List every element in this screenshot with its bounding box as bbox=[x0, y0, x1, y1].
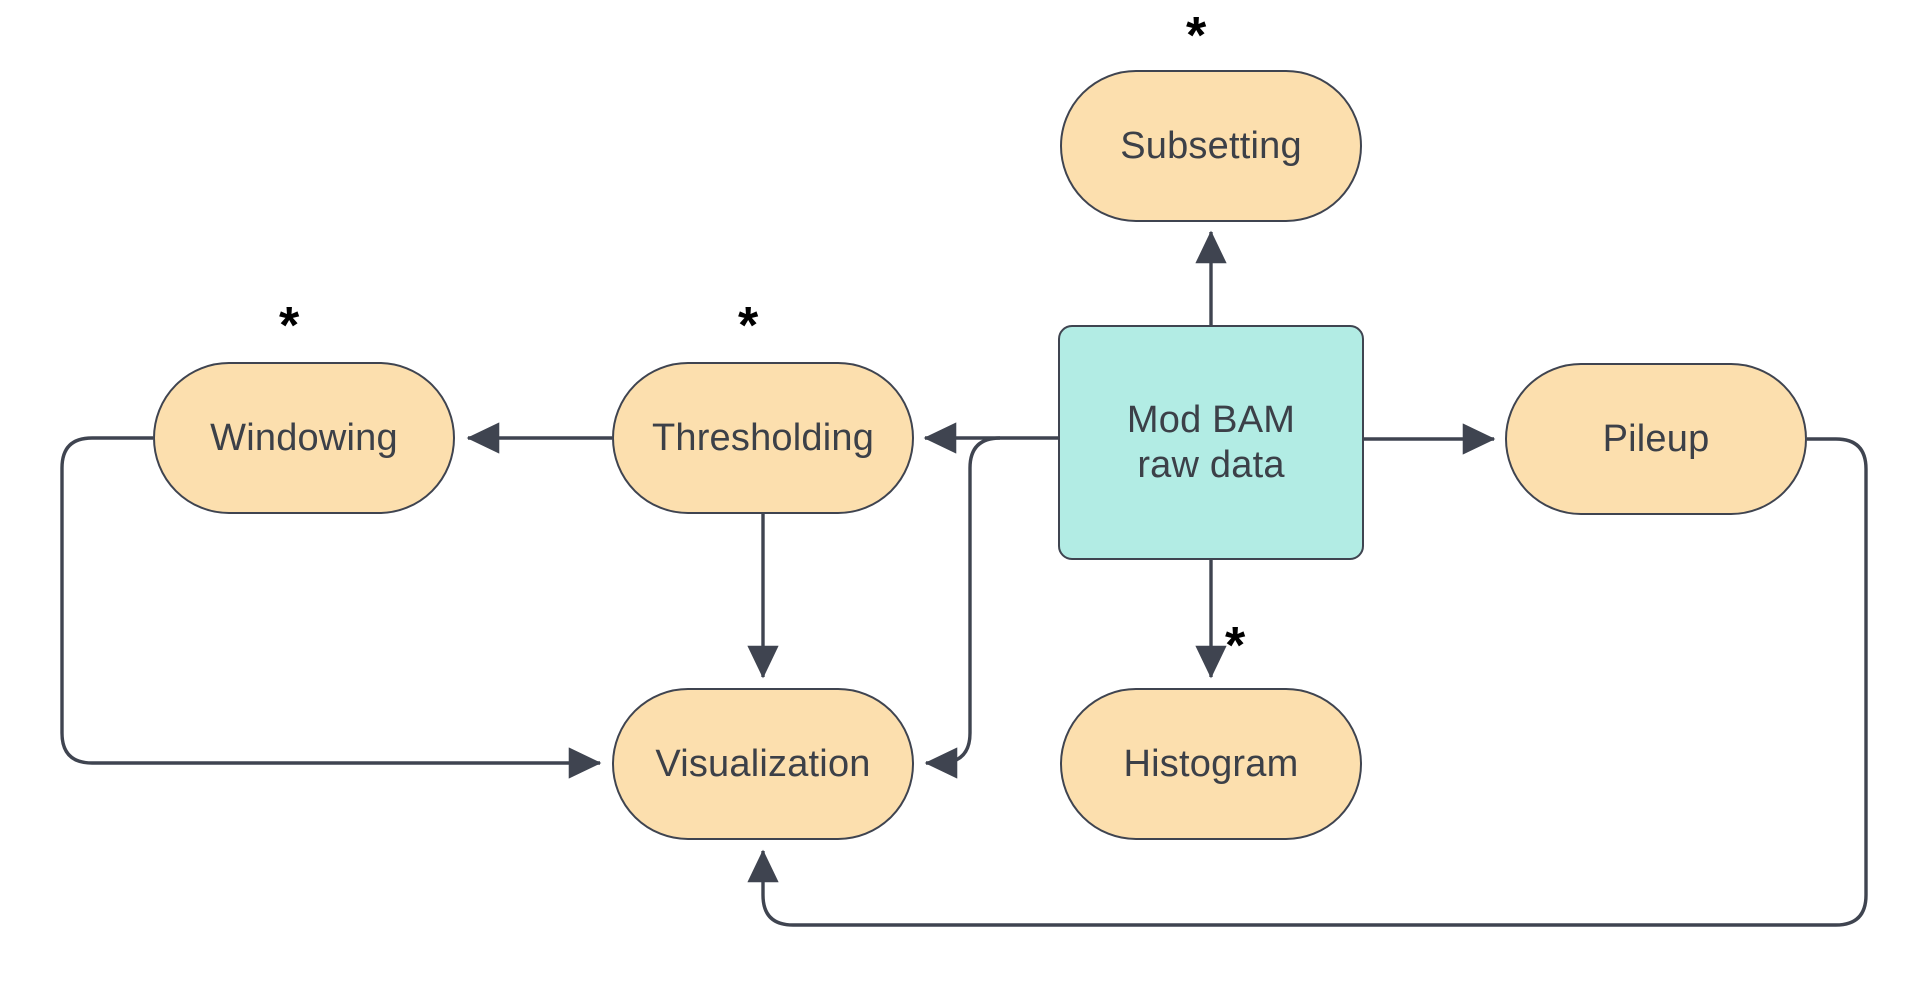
node-subsetting-label: Subsetting bbox=[1120, 124, 1302, 169]
node-thresholding[interactable]: Thresholding bbox=[612, 362, 914, 514]
edge-modbam-visualization bbox=[926, 438, 1000, 763]
asterisk-histogram: * bbox=[1225, 620, 1245, 672]
node-thresholding-label: Thresholding bbox=[652, 416, 874, 461]
node-visualization[interactable]: Visualization bbox=[612, 688, 914, 840]
node-visualization-label: Visualization bbox=[655, 742, 870, 787]
node-windowing-label: Windowing bbox=[210, 416, 398, 461]
node-pileup-label: Pileup bbox=[1603, 417, 1710, 462]
node-histogram[interactable]: Histogram bbox=[1060, 688, 1362, 840]
node-histogram-label: Histogram bbox=[1124, 742, 1299, 787]
flowchart-canvas: Subsetting * Mod BAM raw data Pileup Thr… bbox=[0, 0, 1928, 990]
node-modbam-raw-data[interactable]: Mod BAM raw data bbox=[1058, 325, 1364, 560]
node-windowing[interactable]: Windowing bbox=[153, 362, 455, 514]
asterisk-subsetting: * bbox=[1186, 10, 1206, 62]
node-modbam-label: Mod BAM raw data bbox=[1127, 398, 1295, 488]
asterisk-thresholding: * bbox=[738, 300, 758, 352]
asterisk-windowing: * bbox=[279, 300, 299, 352]
node-subsetting[interactable]: Subsetting bbox=[1060, 70, 1362, 222]
node-pileup[interactable]: Pileup bbox=[1505, 363, 1807, 515]
